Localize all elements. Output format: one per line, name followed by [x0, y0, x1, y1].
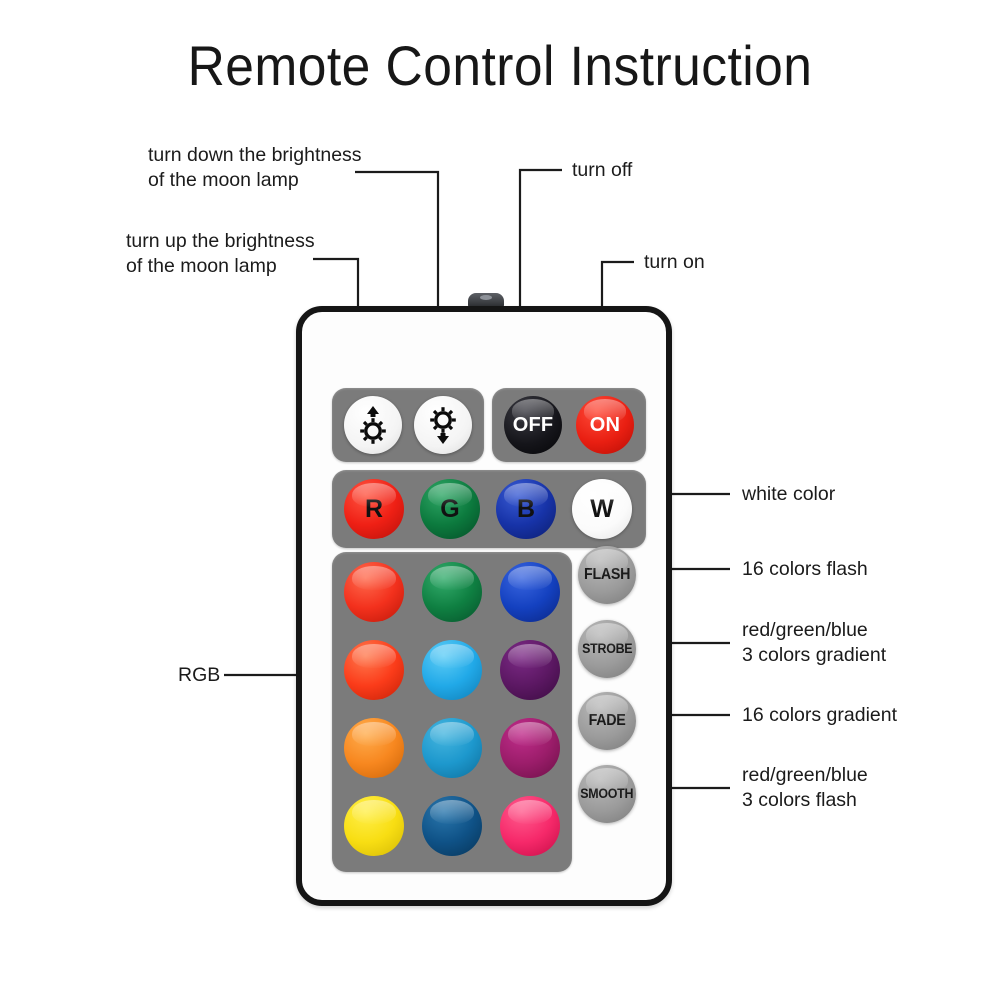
- brightness-up-icon: [353, 403, 393, 447]
- color-grid-cell-r3c2[interactable]: [422, 718, 482, 778]
- color-grid-cell-r3c3[interactable]: [500, 718, 560, 778]
- remote-control-body: OFF ON R G B W: [296, 306, 672, 906]
- color-button-green[interactable]: G: [420, 479, 480, 539]
- callout-fade: 16 colors gradient: [742, 703, 897, 728]
- strobe-button-label: STROBE: [582, 642, 632, 656]
- fade-button-label: FADE: [589, 713, 626, 729]
- color-grid-cell-r4c1[interactable]: [344, 796, 404, 856]
- rgbw-panel: R G B W: [332, 470, 646, 548]
- color-button-green-label: G: [440, 497, 459, 522]
- callout-brightness-up-line2: of the moon lamp: [126, 254, 315, 279]
- off-button[interactable]: OFF: [504, 396, 562, 454]
- off-button-label: OFF: [513, 415, 554, 435]
- color-grid-cell-r4c2[interactable]: [422, 796, 482, 856]
- brightness-up-button[interactable]: [344, 396, 402, 454]
- color-grid-panel: [332, 552, 572, 872]
- callout-turn-on: turn on: [644, 250, 705, 275]
- color-grid-cell-r2c3[interactable]: [500, 640, 560, 700]
- callout-brightness-down-line1: turn down the brightness: [148, 143, 362, 168]
- color-button-red-label: R: [365, 497, 383, 522]
- callout-smooth-line1: red/green/blue: [742, 763, 868, 788]
- callout-brightness-down-line2: of the moon lamp: [148, 168, 362, 193]
- smooth-button[interactable]: SMOOTH: [578, 765, 636, 823]
- on-button-label: ON: [590, 415, 620, 435]
- color-grid-cell-r4c3[interactable]: [500, 796, 560, 856]
- color-grid-cell-r3c1[interactable]: [344, 718, 404, 778]
- callout-brightness-down: turn down the brightness of the moon lam…: [148, 143, 362, 193]
- callout-white-color: white color: [742, 482, 835, 507]
- callout-brightness-up: turn up the brightness of the moon lamp: [126, 229, 315, 279]
- callout-strobe-line1: red/green/blue: [742, 618, 886, 643]
- color-button-white-label: W: [590, 497, 614, 522]
- ir-emitter-icon: [468, 293, 504, 307]
- on-button[interactable]: ON: [576, 396, 634, 454]
- brightness-panel: [332, 388, 484, 462]
- color-grid-cell-r2c2[interactable]: [422, 640, 482, 700]
- smooth-button-label: SMOOTH: [581, 787, 634, 801]
- color-grid-cell-r1c1[interactable]: [344, 562, 404, 622]
- fade-button[interactable]: FADE: [578, 692, 636, 750]
- callout-strobe: red/green/blue 3 colors gradient: [742, 618, 886, 668]
- callout-smooth-line2: 3 colors flash: [742, 788, 868, 813]
- brightness-down-icon: [423, 403, 463, 447]
- color-grid-cell-r2c1[interactable]: [344, 640, 404, 700]
- callout-brightness-up-line1: turn up the brightness: [126, 229, 315, 254]
- callout-turn-off: turn off: [572, 158, 632, 183]
- color-button-blue[interactable]: B: [496, 479, 556, 539]
- color-grid-cell-r1c2[interactable]: [422, 562, 482, 622]
- color-grid-cell-r1c3[interactable]: [500, 562, 560, 622]
- color-button-red[interactable]: R: [344, 479, 404, 539]
- power-panel: OFF ON: [492, 388, 646, 462]
- color-button-blue-label: B: [517, 497, 535, 522]
- callout-strobe-line2: 3 colors gradient: [742, 643, 886, 668]
- brightness-down-button[interactable]: [414, 396, 472, 454]
- strobe-button[interactable]: STROBE: [578, 620, 636, 678]
- diagram-canvas: Remote Control Instruction tu: [0, 0, 1000, 1000]
- flash-button-label: FLASH: [584, 567, 630, 583]
- callout-smooth: red/green/blue 3 colors flash: [742, 763, 868, 813]
- color-button-white[interactable]: W: [572, 479, 632, 539]
- flash-button[interactable]: FLASH: [578, 546, 636, 604]
- callout-rgb: RGB: [178, 663, 220, 688]
- callout-flash: 16 colors flash: [742, 557, 868, 582]
